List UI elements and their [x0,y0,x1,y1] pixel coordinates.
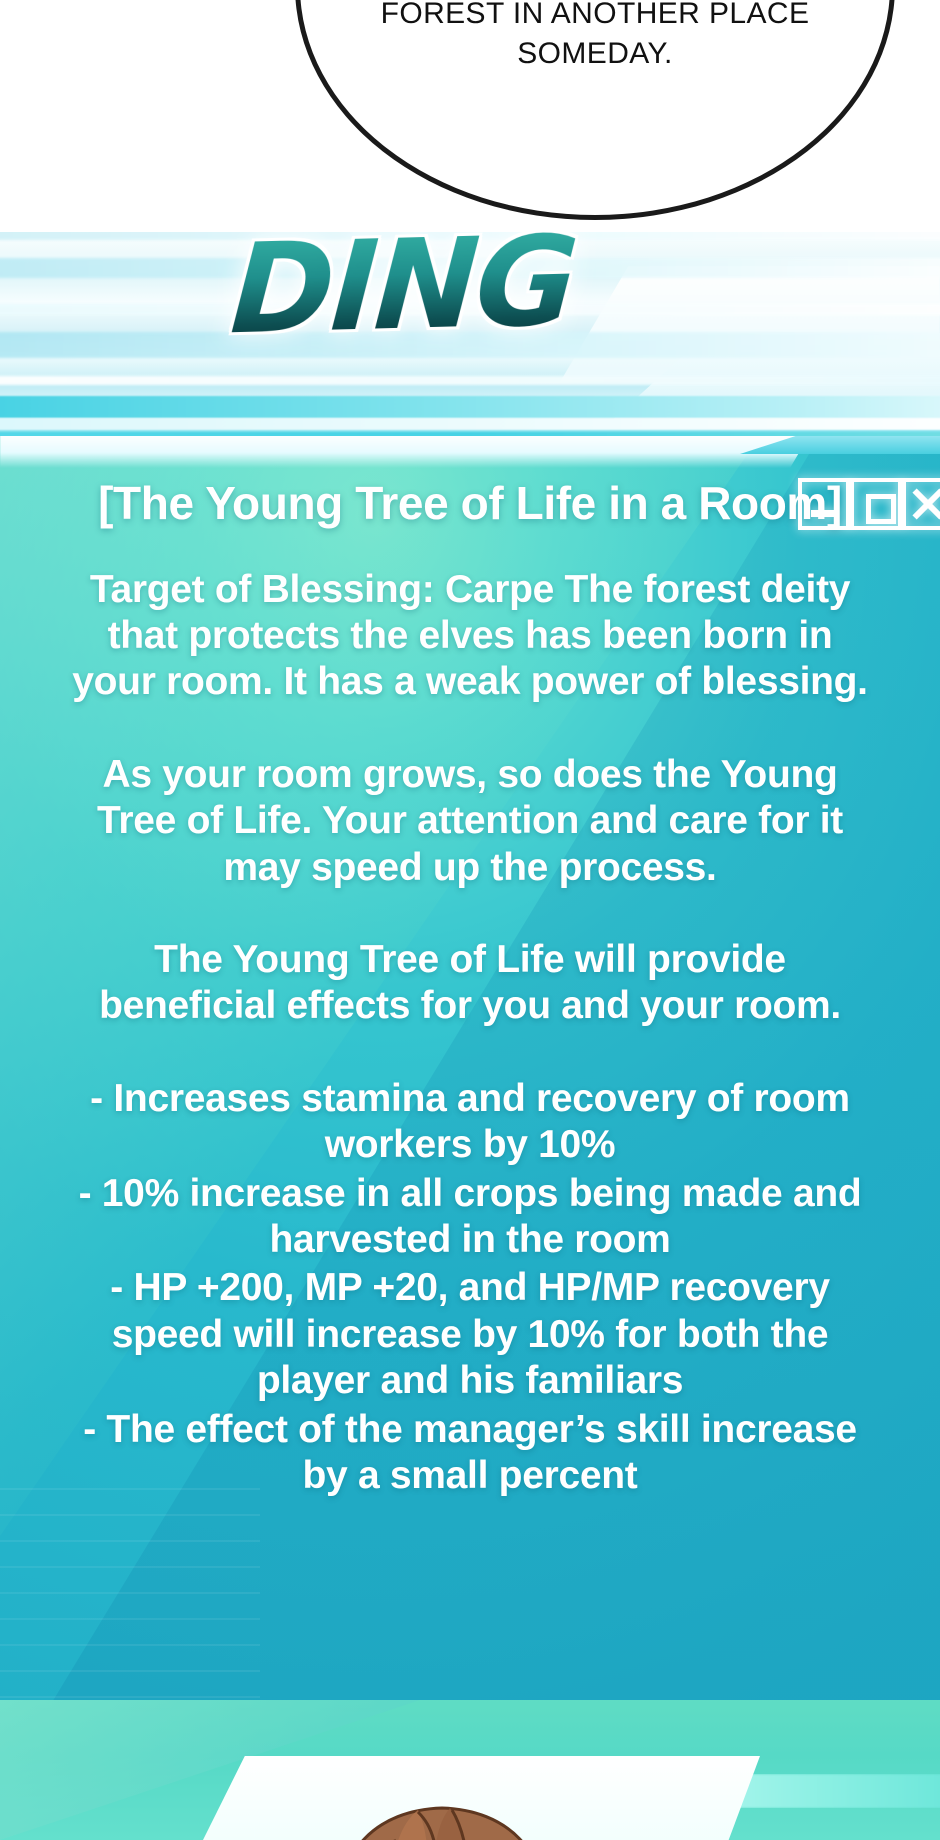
minimize-icon[interactable] [798,478,850,530]
maximize-icon[interactable] [850,478,902,530]
effect-item: - HP +200, MP +20, and HP/MP recovery sp… [66,1265,874,1404]
speech-bubble-line-1: FOREST IN ANOTHER PLACE [300,0,890,34]
hud-accent-bar [0,396,940,418]
hud-accent-bar [0,418,940,430]
status-window-content: [The Young Tree of Life in a Room] Targe… [0,436,940,1502]
status-window-title: [The Young Tree of Life in a Room] [66,478,874,529]
window-controls[interactable] [798,478,940,530]
ding-sound-effect: DING [227,210,579,363]
speech-bubble-region: FOREST IN ANOTHER PLACE SOMEDAY. [0,0,940,232]
status-paragraph-3: The Young Tree of Life will provide bene… [66,937,874,1030]
webtoon-page: FOREST IN ANOTHER PLACE SOMEDAY. DING [T… [0,0,940,1840]
effect-item: - The effect of the manager’s skill incr… [66,1407,874,1500]
status-paragraph-1: Target of Blessing: Carpe The forest dei… [66,567,874,706]
status-window-panel: [The Young Tree of Life in a Room] Targe… [0,436,940,1788]
speech-bubble-text: FOREST IN ANOTHER PLACE SOMEDAY. [300,0,890,73]
character-head [322,1774,562,1840]
effect-item: - 10% increase in all crops being made a… [66,1171,874,1264]
status-effects-list: - Increases stamina and recovery of room… [66,1076,874,1500]
status-paragraph-2: As your room grows, so does the Young Tr… [66,752,874,891]
effect-item: - Increases stamina and recovery of room… [66,1076,874,1169]
close-icon[interactable] [902,478,940,530]
hud-streak [0,376,940,385]
speech-bubble-line-2: SOMEDAY. [300,34,890,74]
